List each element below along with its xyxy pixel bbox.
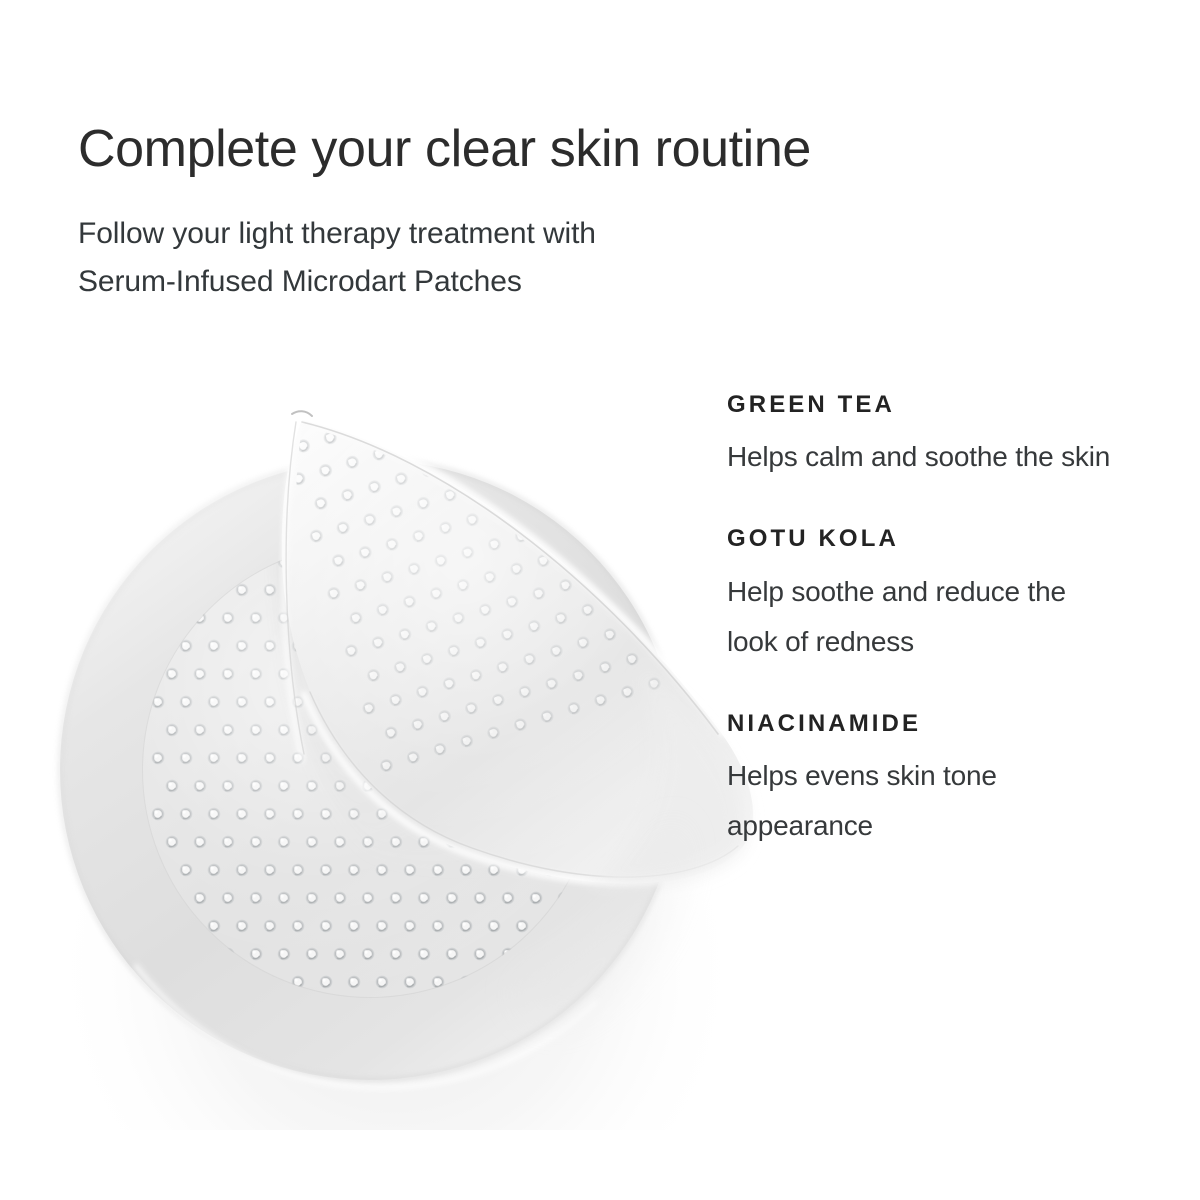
- page-title: Complete your clear skin routine: [78, 120, 1078, 180]
- ingredient-item-gotu-kola: GOTU KOLA Help soothe and reduce the loo…: [727, 526, 1147, 666]
- ingredient-item-green-tea: GREEN TEA Helps calm and soothe the skin: [727, 392, 1147, 482]
- ingredient-description: Helps calm and soothe the skin: [727, 432, 1117, 482]
- product-feature-page: Complete your clear skin routine Follow …: [0, 0, 1200, 1200]
- microdart-patch-illustration: [40, 330, 800, 1130]
- ingredient-description: Help soothe and reduce the look of redne…: [727, 567, 1117, 667]
- ingredient-item-niacinamide: NIACINAMIDE Helps evens skin tone appear…: [727, 711, 1147, 851]
- header-block: Complete your clear skin routine Follow …: [78, 120, 1078, 306]
- ingredient-name: GOTU KOLA: [727, 526, 1147, 552]
- page-subtitle-line-1: Follow your light therapy treatment with: [78, 210, 1078, 258]
- ingredient-list: GREEN TEA Helps calm and soothe the skin…: [727, 392, 1147, 851]
- product-image: [40, 330, 800, 1130]
- page-subtitle: Follow your light therapy treatment with…: [78, 180, 1078, 306]
- ingredient-name: GREEN TEA: [727, 392, 1147, 418]
- ingredient-name: NIACINAMIDE: [727, 711, 1147, 737]
- page-subtitle-line-2: Serum-Infused Microdart Patches: [78, 258, 1078, 306]
- ingredient-description: Helps evens skin tone appearance: [727, 751, 1117, 851]
